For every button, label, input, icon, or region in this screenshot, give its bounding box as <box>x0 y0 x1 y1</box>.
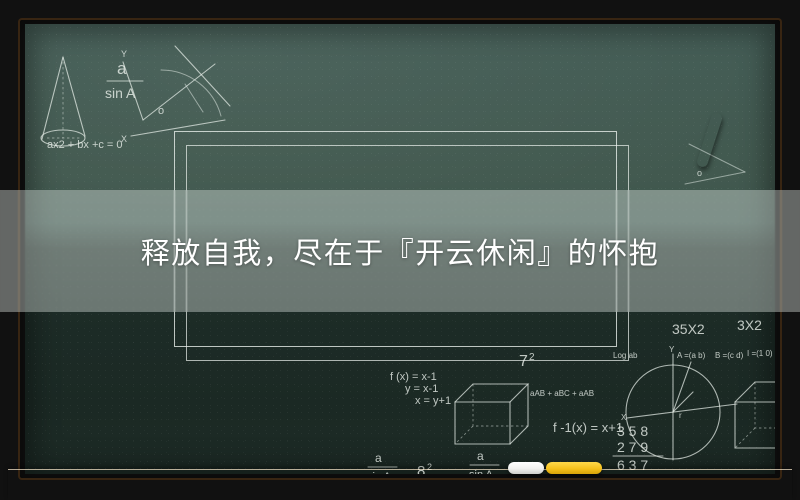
chalk-ledge <box>8 469 792 500</box>
yellow-chalk-icon <box>546 462 602 474</box>
chalkboard-banner: a sin A ax2 + bx +c = 0 Y X o f (x) = x <box>0 0 800 500</box>
white-chalk-icon <box>508 462 544 474</box>
headline-text: 释放自我，尽在于『开云休闲』的怀抱 <box>0 190 800 312</box>
